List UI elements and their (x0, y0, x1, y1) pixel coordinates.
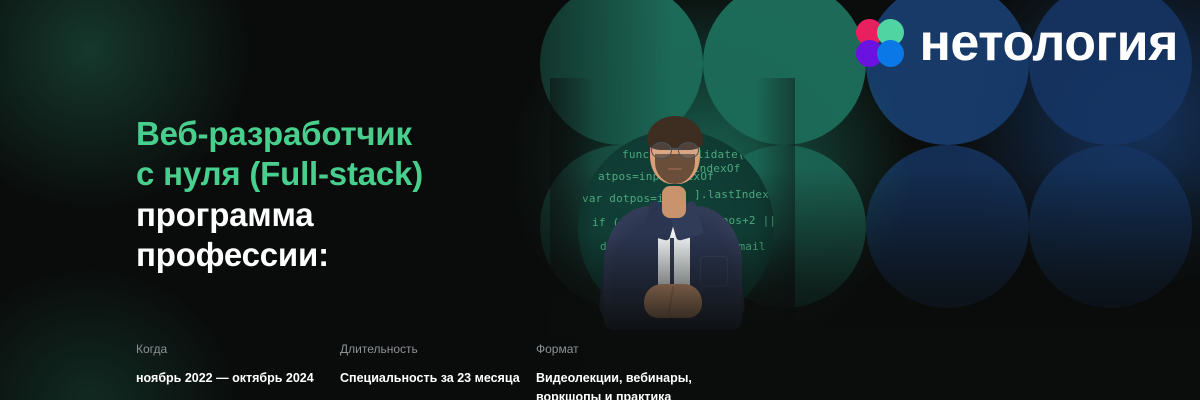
person-figure (560, 88, 785, 328)
title-line-3: программа (136, 195, 423, 235)
fact-value: ноябрь 2022 — октябрь 2024 (136, 369, 340, 388)
fact-format: Формат Видеолекции, вебинары, воркшопы и… (536, 342, 740, 400)
person-neck (662, 186, 686, 218)
person-mouth (668, 168, 682, 170)
instructor-photo: function validate(inp) atpos=inp.indexOf… (560, 88, 785, 328)
page-title: Веб-разработчик с нуля (Full-stack) прог… (136, 114, 423, 275)
person-shirt-pocket (700, 256, 728, 286)
fact-value: Видеолекции, вебинары, воркшопы и практи… (536, 369, 740, 400)
title-line-1: Веб-разработчик (136, 114, 423, 154)
title-line-4: профессии: (136, 235, 423, 275)
fact-value: Специальность за 23 месяца (340, 369, 536, 388)
logo-circle-bottom-right (877, 40, 904, 67)
brand-wordmark: нетология (920, 17, 1178, 69)
fact-duration: Длительность Специальность за 23 месяца (340, 342, 536, 400)
fact-label: Когда (136, 342, 340, 358)
fact-label: Формат (536, 342, 740, 358)
glasses-lens-left (651, 142, 672, 159)
glasses-icon (650, 142, 700, 157)
glasses-lens-right (678, 142, 699, 159)
fact-when: Когда ноябрь 2022 — октябрь 2024 (136, 342, 340, 400)
title-line-2: с нуля (Full-stack) (136, 154, 423, 194)
fact-label: Длительность (340, 342, 536, 358)
netologia-logo-icon (856, 19, 904, 67)
promo-banner: function validate(inp) atpos=inp.indexOf… (0, 0, 1200, 400)
glasses-bridge (670, 148, 678, 150)
course-facts: Когда ноябрь 2022 — октябрь 2024 Длитель… (136, 342, 740, 400)
brand-logo[interactable]: нетология (856, 17, 1178, 69)
